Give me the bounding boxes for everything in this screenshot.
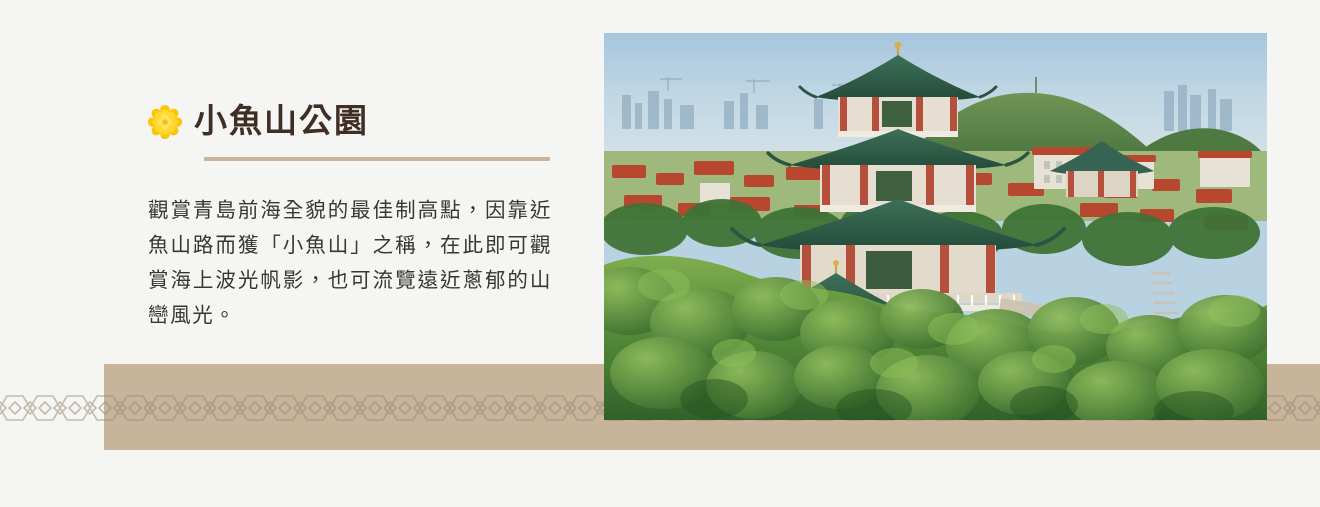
flower-icon xyxy=(148,105,182,139)
description-text: 觀賞青島前海全貌的最佳制高點，因靠近魚山路而獲「小魚山」之稱，在此即可觀賞海上波… xyxy=(148,194,552,334)
park-photo-illustration xyxy=(604,33,1267,420)
title-divider xyxy=(204,157,550,161)
park-photo xyxy=(604,33,1267,420)
page-title: 小魚山公園 xyxy=(194,106,369,139)
title-row: 小魚山公園 xyxy=(148,96,556,148)
travel-info-card: 小魚山公園 觀賞青島前海全貌的最佳制高點，因靠近魚山路而獲「小魚山」之稱，在此即… xyxy=(0,0,1320,507)
text-column: 小魚山公園 觀賞青島前海全貌的最佳制高點，因靠近魚山路而獲「小魚山」之稱，在此即… xyxy=(148,96,556,355)
